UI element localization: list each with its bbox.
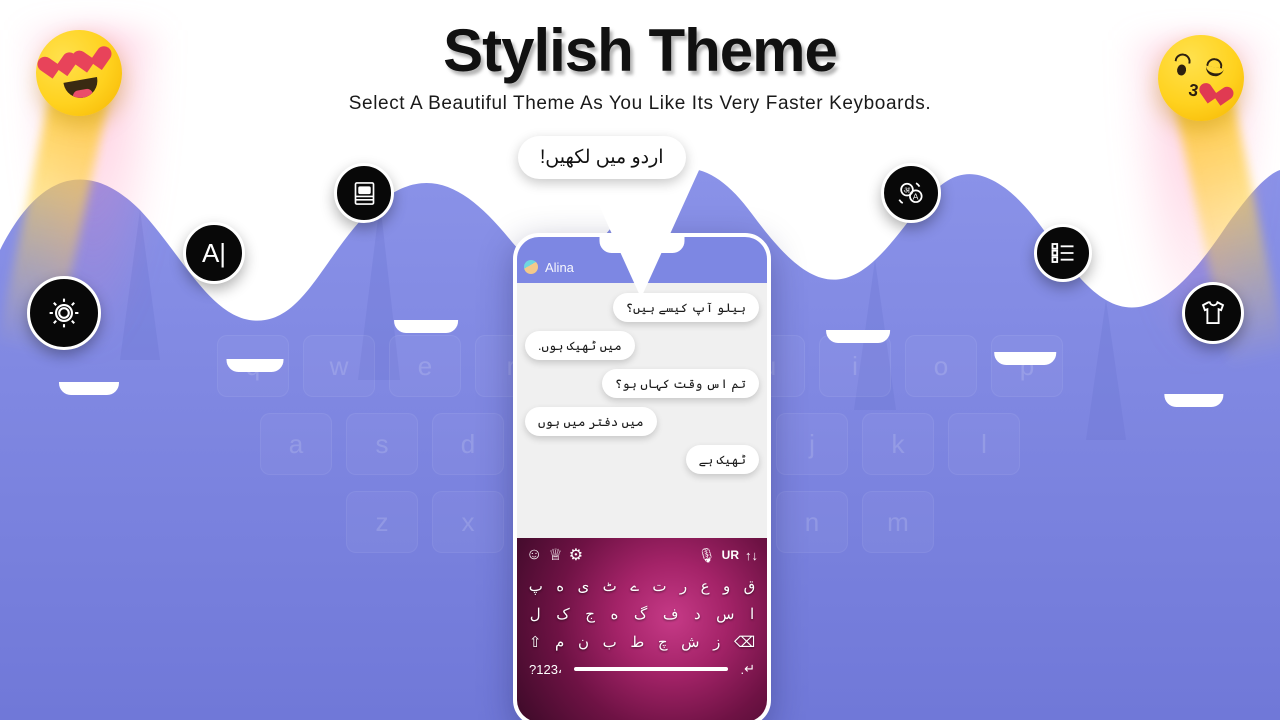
chat-contact-name: Alina [545,260,574,275]
keyboard-key[interactable]: گ [634,605,647,623]
chat-message: ٹھیک ہے [525,445,759,474]
keyboard-key[interactable]: ی [578,577,590,595]
chat-screen: ہیلو آپ کیسے ہیں؟میں ٹھیک ہوں.تم اس وقت … [517,283,767,538]
gear-icon [46,295,82,331]
fancy-text-badge[interactable] [1034,224,1092,282]
ghost-key: l [948,413,1020,475]
keyboard-key[interactable]: پ [529,577,543,595]
ghost-key: n [776,491,848,553]
chat-bubble[interactable]: میں دفتر میں ہوں [525,407,657,436]
callout-text: اردو میں لکھیں! [518,136,686,179]
ghost-key: k [862,413,934,475]
chat-bubble[interactable]: ہیلو آپ کیسے ہیں؟ [613,293,759,322]
translate-icon: अ A [895,177,927,209]
keyboard-key[interactable]: چ [658,633,668,651]
ghost-key: i [819,335,891,397]
ghost-key: a [260,413,332,475]
keyboard-key[interactable]: س [716,605,734,623]
comma-key[interactable]: ، [558,661,562,677]
enter-key[interactable]: ↵ [744,661,755,677]
chat-message: تم اس وقت کہاں ہو؟ [525,369,759,398]
keyboard-chat: ☺ ♕ ⚙ 🎙 UR ↑↓ پهیٹےترعوق لکجهگفدسا ⇧منبط… [517,538,767,720]
ghost-key: z [346,491,418,553]
ghost-key: s [346,413,418,475]
keyboard-key[interactable]: ط [630,633,644,651]
chat-bubble[interactable]: ٹھیک ہے [686,445,759,474]
ghost-key: w [303,335,375,397]
ghost-key: x [432,491,504,553]
book-icon [351,180,378,207]
ghost-key: j [776,413,848,475]
keyboard-key[interactable]: ز [713,633,720,651]
tshirt-icon[interactable]: ♕ [548,545,562,565]
chat-message: میں ٹھیک ہوں. [525,331,759,360]
chat-bubble[interactable]: میں ٹھیک ہوں. [525,331,635,360]
chat-bubble[interactable]: تم اس وقت کہاں ہو؟ [602,369,759,398]
smiley-icon[interactable]: ☺ [526,546,542,564]
keyboard-key[interactable]: ش [681,633,699,651]
keyboard-key[interactable]: د [694,605,701,623]
page-title: Stylish Theme [0,16,1280,85]
keyboard-key[interactable]: ج [585,605,595,623]
svg-text:अ: अ [904,185,911,195]
kb-row-3: ⇧منبطچشز⌫ [517,628,767,656]
ghost-key: o [905,335,977,397]
chat-message: میں دفتر میں ہوں [525,407,759,436]
language-indicator: UR [722,548,739,562]
kb-row-1: پهیٹےترعوق [517,572,767,600]
kb-row-2: لکجهگفدسا [517,600,767,628]
settings-badge[interactable] [27,276,101,350]
translator-badge[interactable]: अ A [881,163,941,223]
keyboard-key[interactable]: ق [744,577,756,595]
promo-banner: qwertyuiopasdfghjklzxcvbnm 3 Stylish The… [0,0,1280,720]
theme-badge[interactable] [1182,282,1244,344]
avatar [524,260,538,274]
keyboard-key[interactable]: ک [556,605,569,623]
keyboard-key[interactable]: ل [530,605,541,623]
callout-bubble: اردو میں لکھیں! [518,136,686,179]
keyboard-key[interactable]: ع [701,577,710,595]
tshirt-icon [1198,298,1228,328]
keyboard-key[interactable]: م [555,633,564,651]
keyboard-key[interactable]: ن [578,633,589,651]
ghost-key: p [991,335,1063,397]
numbers-key[interactable]: ?123 [529,662,558,677]
phone-chat: Alina ہیلو آپ کیسے ہیں؟میں ٹھیک ہوں.تم ا… [513,233,771,720]
ghost-key: e [389,335,461,397]
ghost-key: d [432,413,504,475]
keyboard-key[interactable]: ه [610,605,618,623]
keyboard-key[interactable]: ر [680,577,687,595]
keyboard-key[interactable]: و [723,577,730,595]
keyboard-key[interactable]: ب [603,633,617,651]
keyboard-key[interactable]: ا [750,605,754,623]
switch-icon[interactable]: ↑↓ [745,548,758,563]
keyboard-key[interactable]: ٹ [603,577,617,595]
svg-text:A: A [913,192,919,202]
ghost-key: m [862,491,934,553]
mic-icon[interactable]: 🎙 [698,547,716,564]
dictionary-badge[interactable] [334,163,394,223]
gear-icon[interactable]: ⚙ [569,545,583,565]
chat-message: ہیلو آپ کیسے ہیں؟ [525,293,759,322]
list-icon [1049,239,1077,267]
shift-key[interactable]: ⇧ [529,633,542,651]
text-cursor-icon: A| [202,238,226,269]
backspace-key[interactable]: ⌫ [734,633,755,651]
keyboard-key[interactable]: ه [556,577,564,595]
text-art-badge[interactable]: A| [183,222,245,284]
keyboard-key[interactable]: ے [630,577,639,595]
keyboard-key[interactable]: ف [663,605,679,623]
keyboard-key[interactable]: ت [652,577,666,595]
spacebar-key[interactable] [574,667,728,671]
page-subtitle: Select A Beautiful Theme As You Like Its… [0,93,1280,115]
